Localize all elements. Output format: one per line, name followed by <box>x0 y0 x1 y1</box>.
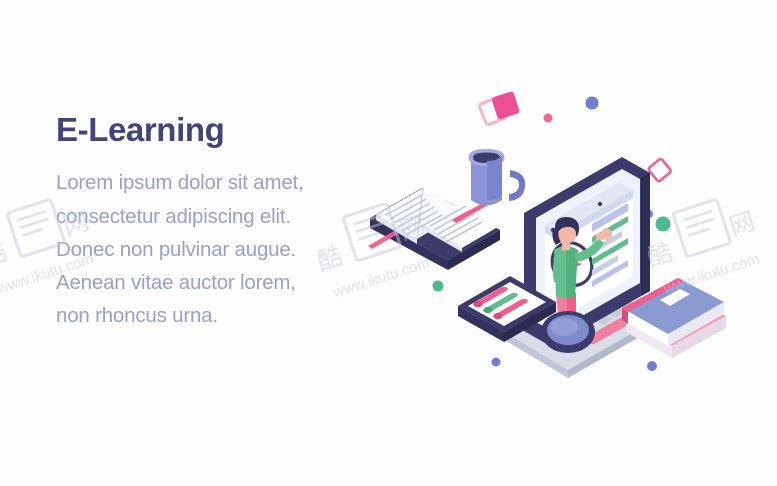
decor-squares <box>479 91 672 182</box>
page-title: E-Learning <box>56 112 356 148</box>
body-line-4: Aenean vitae auctor lorem, <box>56 266 356 299</box>
body-line-5: non rhoncus urna. <box>56 299 356 332</box>
text-column: E-Learning Lorem ipsum dolor sit amet, c… <box>56 112 356 332</box>
body-line-3: Donec non pulvinar augue. <box>56 233 356 266</box>
body-line-1: Lorem ipsum dolor sit amet, <box>56 166 356 199</box>
illustration <box>360 78 760 408</box>
body-line-2: consectetur adipiscing elit. <box>56 200 356 233</box>
coffee-mug <box>469 149 526 206</box>
body-paragraph: Lorem ipsum dolor sit amet, consectetur … <box>56 166 356 332</box>
svg-text:酷: 酷 <box>0 237 10 272</box>
e-learning-banner: E-Learning Lorem ipsum dolor sit amet, c… <box>0 0 777 486</box>
